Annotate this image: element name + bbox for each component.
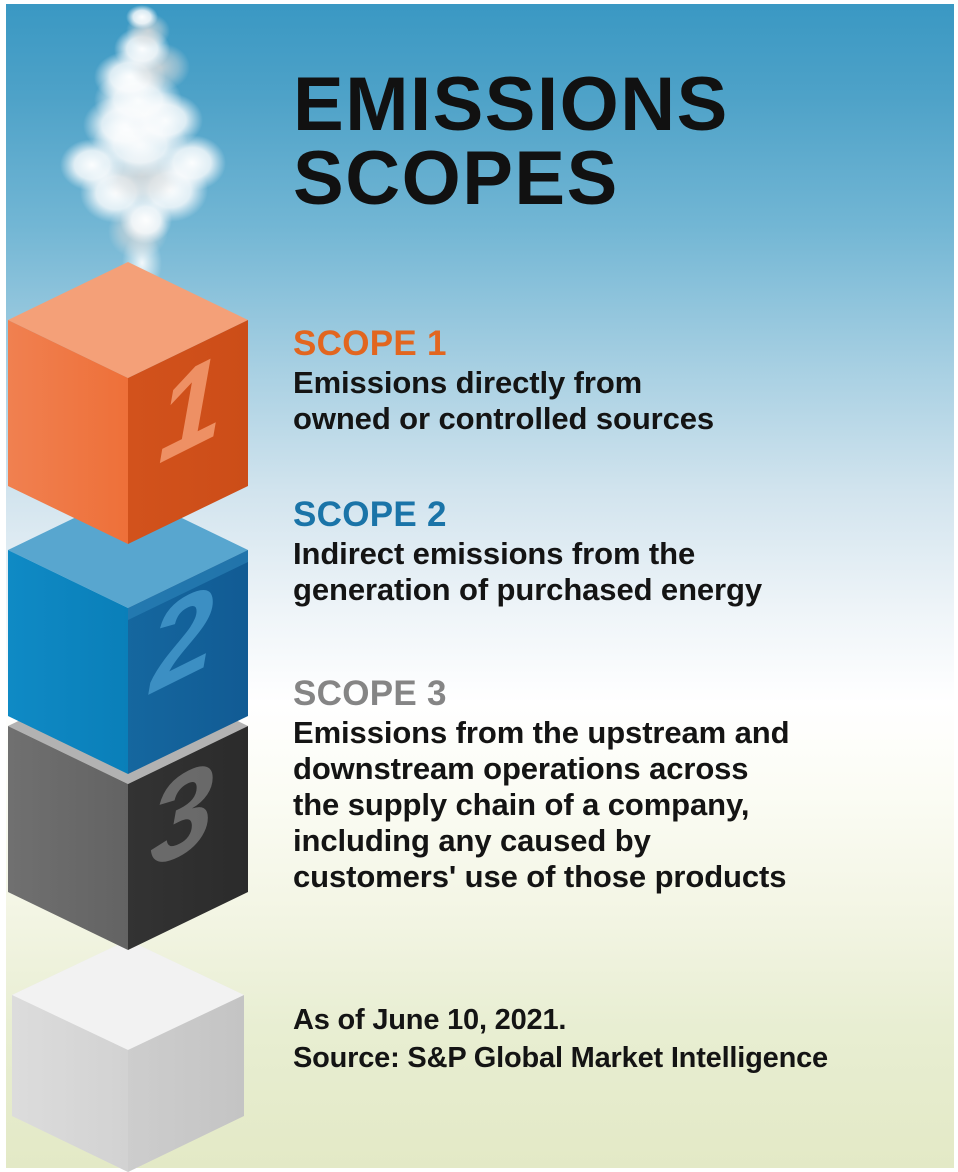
scope-3-block: SCOPE 3 Emissions from the upstream and … — [293, 676, 938, 895]
scope-1-line-1: Emissions directly from — [293, 365, 938, 401]
scope-2-block: SCOPE 2 Indirect emissions from the gene… — [293, 497, 938, 608]
scope-2-heading: SCOPE 2 — [293, 497, 938, 534]
scope-1-heading: SCOPE 1 — [293, 326, 938, 363]
cube-base — [12, 940, 244, 1172]
scope-3-line-3: the supply chain of a company, — [293, 787, 938, 823]
scope-3-line-4: including any caused by — [293, 823, 938, 859]
emissions-scopes-infographic: 3 2 1 — [0, 0, 958, 1172]
scope-1-line-2: owned or controlled sources — [293, 401, 938, 437]
footer-source-block: As of June 10, 2021. Source: S&P Global … — [293, 1002, 943, 1077]
scope-3-line-1: Emissions from the upstream and — [293, 715, 938, 751]
scope-1-description: Emissions directly from owned or control… — [293, 365, 938, 437]
scope-3-line-5: customers' use of those products — [293, 859, 938, 895]
source-attribution: Source: S&P Global Market Intelligence — [293, 1040, 943, 1078]
page-title: EMISSIONS SCOPES — [293, 68, 933, 217]
as-of-date: As of June 10, 2021. — [293, 1002, 943, 1040]
scope-2-description: Indirect emissions from the generation o… — [293, 536, 938, 608]
scope-2-line-2: generation of purchased energy — [293, 572, 938, 608]
scope-2-line-1: Indirect emissions from the — [293, 536, 938, 572]
scope-3-heading: SCOPE 3 — [293, 676, 938, 713]
text-column: EMISSIONS SCOPES SCOPE 1 Emissions direc… — [293, 0, 943, 1172]
scope-1-block: SCOPE 1 Emissions directly from owned or… — [293, 326, 938, 437]
isometric-cube-stack: 3 2 1 — [0, 250, 275, 1172]
title-line-2: SCOPES — [293, 142, 933, 216]
scope-3-description: Emissions from the upstream and downstre… — [293, 715, 938, 895]
title-line-1: EMISSIONS — [293, 68, 933, 142]
scope-3-line-2: downstream operations across — [293, 751, 938, 787]
cube-scope-1: 1 — [8, 262, 248, 544]
